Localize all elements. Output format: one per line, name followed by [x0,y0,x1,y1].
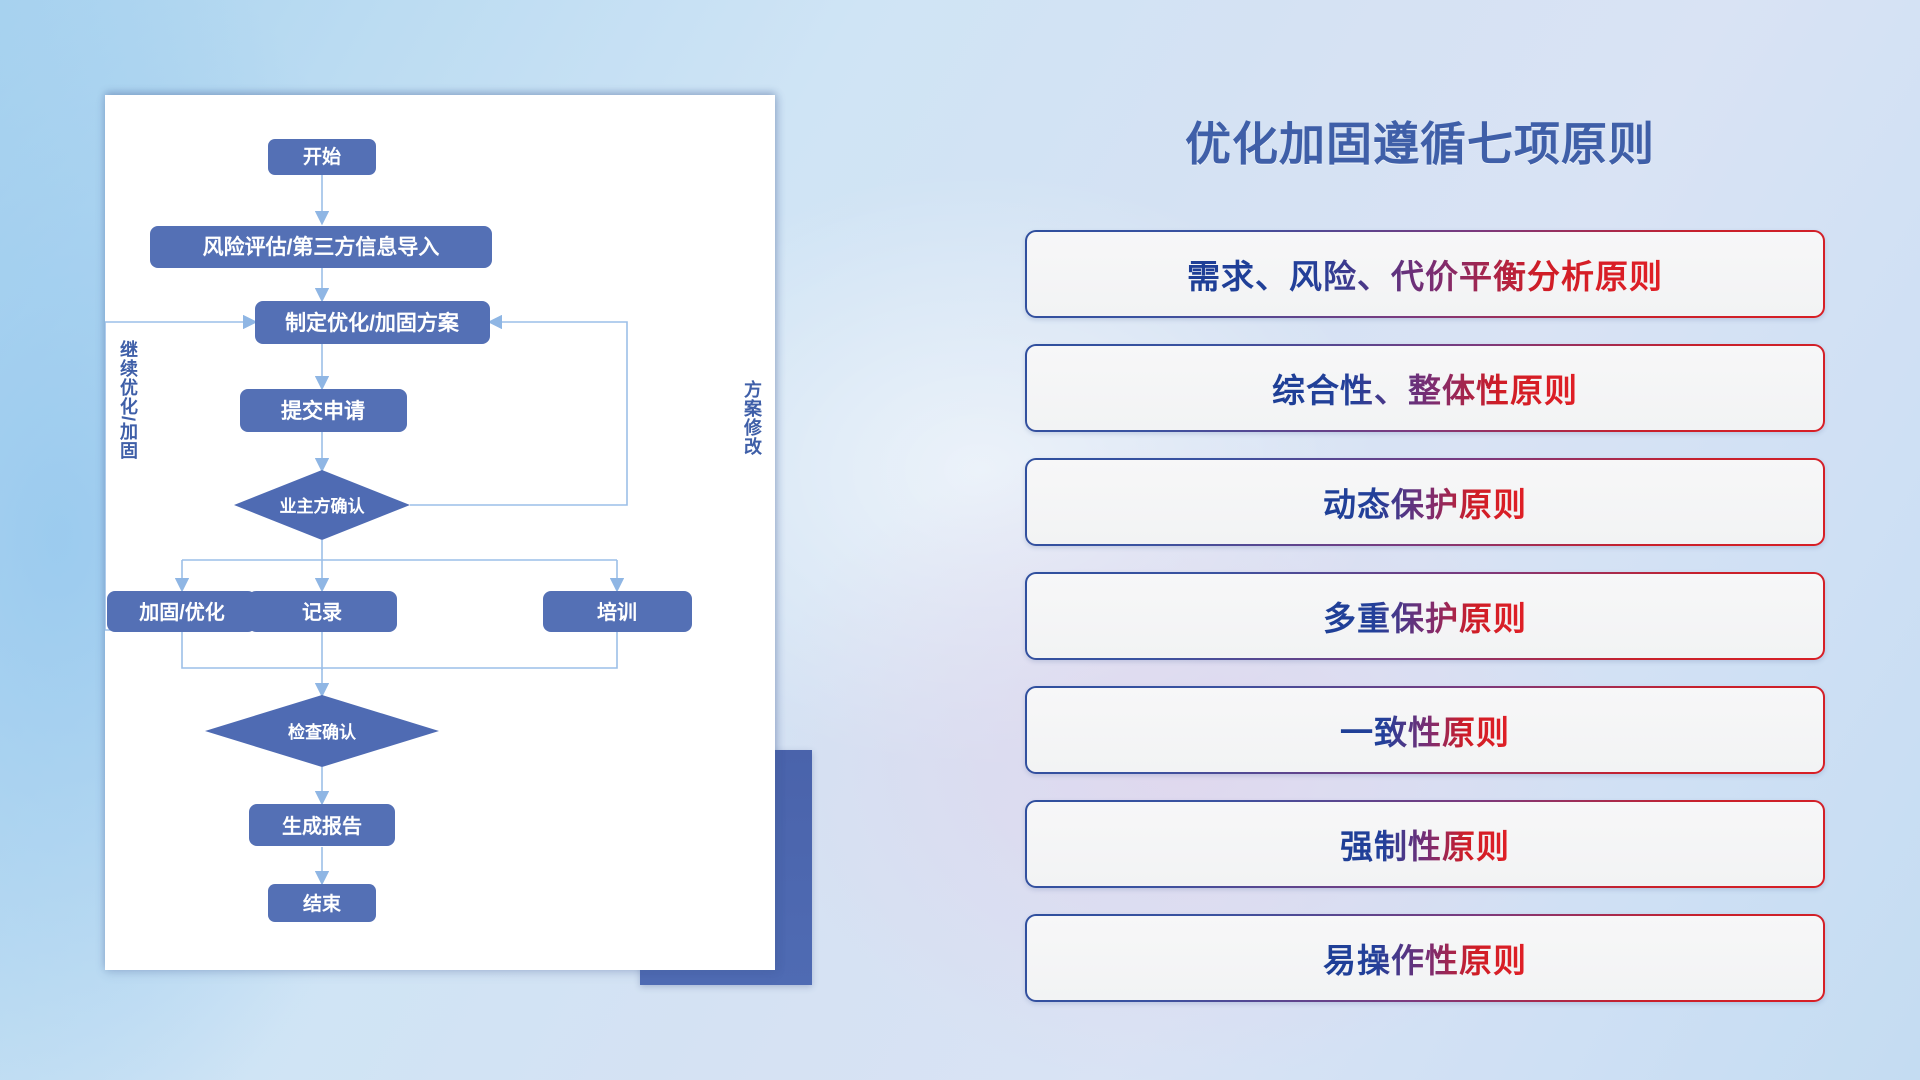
flow-node-risk-assessment[interactable]: 风险评估/第三方信息导入 [150,226,492,268]
principle-card-inner: 一致性原则 [1027,688,1823,772]
principle-label: 强制性原则 [1340,820,1510,868]
principle-card[interactable]: 综合性、整体性原则 [1025,344,1825,432]
flow-node-end[interactable]: 结束 [268,884,376,922]
flow-edge-label-left-loop-text: 继续优化/加固 [118,339,139,460]
principle-card[interactable]: 需求、风险、代价平衡分析原则 [1025,230,1825,318]
page-title: 优化加固遵循七项原则 [1020,108,1820,174]
principle-card-inner: 强制性原则 [1027,802,1823,886]
flow-node-make-plan-label: 制定优化/加固方案 [285,311,460,335]
flow-node-generate-report-label: 生成报告 [282,814,362,838]
flow-node-owner-confirm-label: 业主方确认 [280,496,366,516]
principle-label: 一致性原则 [1340,706,1510,754]
principle-label: 需求、风险、代价平衡分析原则 [1187,250,1663,298]
flow-node-submit-application-label: 提交申请 [281,399,365,423]
flow-node-risk-assessment-label: 风险评估/第三方信息导入 [203,235,440,259]
principle-card[interactable]: 多重保护原则 [1025,572,1825,660]
principle-label: 多重保护原则 [1323,592,1527,640]
flow-node-training[interactable]: 培训 [543,591,692,632]
flow-node-check-confirm-label: 检查确认 [288,722,357,742]
principle-card[interactable]: 一致性原则 [1025,686,1825,774]
principle-card-inner: 多重保护原则 [1027,574,1823,658]
principle-card[interactable]: 强制性原则 [1025,800,1825,888]
flow-node-record[interactable]: 记录 [248,591,397,632]
flow-node-check-confirm[interactable]: 检查确认 [205,695,439,767]
flow-node-record-label: 记录 [302,601,342,624]
flow-edge-label-left-loop: 继续优化/加固 [118,339,139,460]
slide-root: 开始 风险评估/第三方信息导入 制定优化/加固方案 提交申请 业主方确认 加固/… [0,0,1920,1080]
flowchart-diagram: 开始 风险评估/第三方信息导入 制定优化/加固方案 提交申请 业主方确认 加固/… [105,95,775,970]
flow-node-owner-confirm[interactable]: 业主方确认 [234,470,410,540]
flow-node-start[interactable]: 开始 [268,139,376,175]
principle-card-inner: 易操作性原则 [1027,916,1823,1000]
flow-node-end-label: 结束 [303,892,342,915]
principle-label: 易操作性原则 [1323,934,1527,982]
flow-node-submit-application[interactable]: 提交申请 [240,389,407,432]
flow-node-training-label: 培训 [597,600,637,624]
flow-node-reinforce-optimize[interactable]: 加固/优化 [107,591,256,632]
flow-edge-label-right-loop-text: 方案修改 [742,379,763,456]
principle-card[interactable]: 易操作性原则 [1025,914,1825,1002]
principles-list: 需求、风险、代价平衡分析原则 综合性、整体性原则 动态保护原则 多重保护原则 一… [1025,230,1825,1028]
principle-label: 综合性、整体性原则 [1272,364,1578,412]
principle-card[interactable]: 动态保护原则 [1025,458,1825,546]
principle-card-inner: 动态保护原则 [1027,460,1823,544]
flow-node-generate-report[interactable]: 生成报告 [249,804,395,846]
principle-card-inner: 需求、风险、代价平衡分析原则 [1027,232,1823,316]
flow-node-start-label: 开始 [303,145,341,168]
flow-node-reinforce-optimize-label: 加固/优化 [138,600,225,624]
principle-card-inner: 综合性、整体性原则 [1027,346,1823,430]
flow-node-make-plan[interactable]: 制定优化/加固方案 [255,301,490,344]
principle-label: 动态保护原则 [1323,478,1527,526]
flow-edge-label-right-loop: 方案修改 [742,379,763,456]
